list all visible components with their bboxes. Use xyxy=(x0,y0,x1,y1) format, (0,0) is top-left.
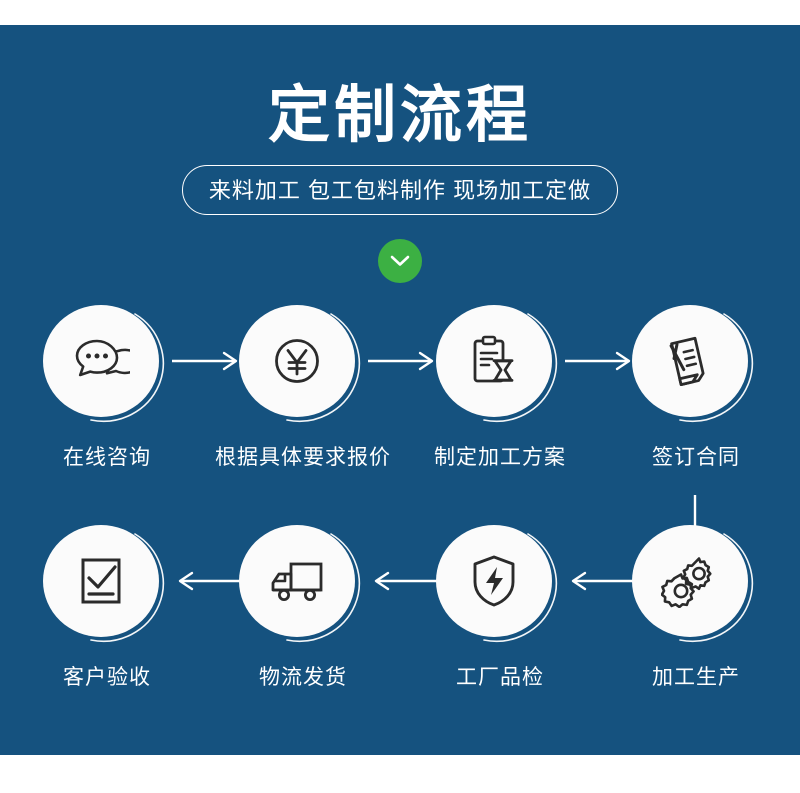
flow-row-2: 客户验收 xyxy=(0,525,800,715)
icon-disc xyxy=(632,525,760,647)
flow-step-plan[interactable]: 制定加工方案 xyxy=(410,305,590,471)
gears-icon xyxy=(661,554,719,608)
flow-step-customer-acceptance[interactable]: 客户验收 xyxy=(17,525,197,691)
flow-row-1: 在线咨询 xyxy=(0,305,800,495)
flow-step-online-consult[interactable]: 在线咨询 xyxy=(17,305,197,471)
disc-background xyxy=(239,305,355,417)
icon-disc xyxy=(436,525,564,647)
disc-background xyxy=(632,525,748,637)
header: 定制流程 来料加工 包工包料制作 现场加工定做 xyxy=(0,25,800,215)
icon-disc xyxy=(632,305,760,427)
flow-step-label: 在线咨询 xyxy=(17,441,197,471)
flow-step-label: 签订合同 xyxy=(606,441,786,471)
flow-step-label: 加工生产 xyxy=(606,661,786,691)
scroll-down-badge[interactable] xyxy=(378,239,422,283)
delivery-truck-icon xyxy=(267,557,327,605)
disc-background xyxy=(436,525,552,637)
flow-step-quotation[interactable]: 根据具体要求报价 xyxy=(213,305,393,471)
flow-step-label: 根据具体要求报价 xyxy=(213,441,393,471)
flow-step-label: 工厂品检 xyxy=(410,661,590,691)
checkbox-checked-icon xyxy=(75,554,127,608)
disc-background xyxy=(632,305,748,417)
icon-disc xyxy=(43,525,171,647)
chat-bubbles-icon xyxy=(72,335,130,387)
flow-step-label: 制定加工方案 xyxy=(410,441,590,471)
flow-step-production[interactable]: 加工生产 xyxy=(606,525,786,691)
banner: 定制流程 来料加工 包工包料制作 现场加工定做 xyxy=(0,25,800,755)
flow-step-label: 物流发货 xyxy=(213,661,393,691)
icon-disc xyxy=(239,525,367,647)
icon-disc xyxy=(436,305,564,427)
disc-background xyxy=(436,305,552,417)
disc-background xyxy=(239,525,355,637)
subtitle-pill: 来料加工 包工包料制作 现场加工定做 xyxy=(182,165,618,215)
disc-background xyxy=(43,525,159,637)
flow-step-logistics[interactable]: 物流发货 xyxy=(213,525,393,691)
disc-background xyxy=(43,305,159,417)
icon-disc xyxy=(239,305,367,427)
contract-signing-icon xyxy=(662,333,718,389)
flow-step-label: 客户验收 xyxy=(17,661,197,691)
flow-step-quality-check[interactable]: 工厂品检 xyxy=(410,525,590,691)
chevron-down-icon xyxy=(389,254,411,268)
page-title: 定制流程 xyxy=(0,83,800,148)
flow-step-contract[interactable]: 签订合同 xyxy=(606,305,786,471)
icon-disc xyxy=(43,305,171,427)
shield-bolt-icon xyxy=(469,553,519,609)
clipboard-flask-icon xyxy=(466,333,522,389)
yuan-currency-icon xyxy=(270,334,324,388)
